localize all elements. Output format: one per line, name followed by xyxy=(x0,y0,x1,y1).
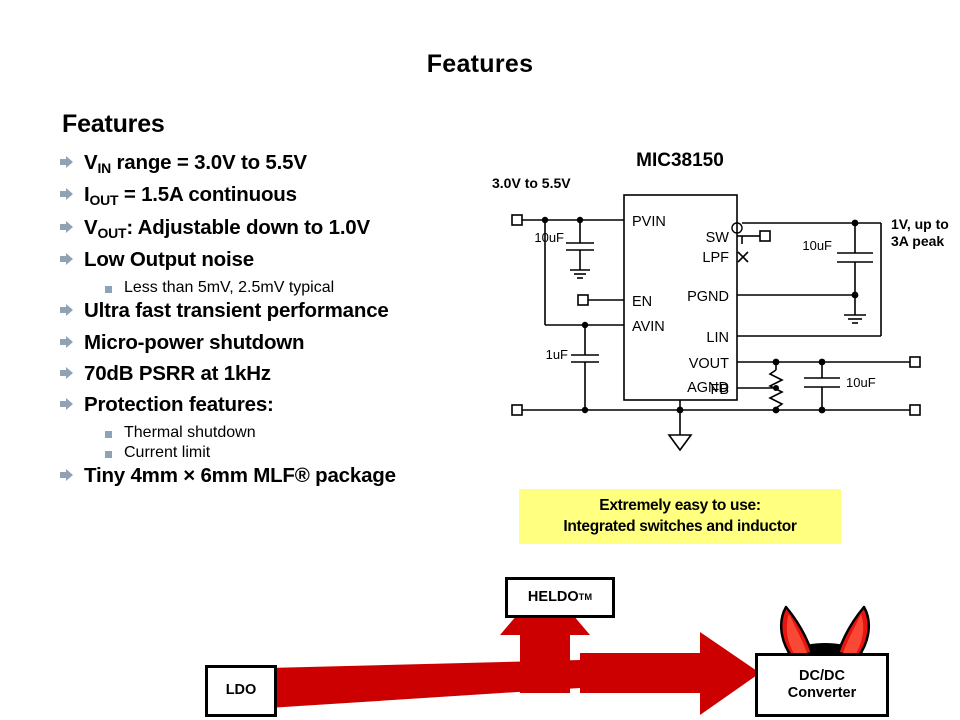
terminal-gnd-in xyxy=(512,405,522,415)
pin-label-fb: FB xyxy=(710,382,729,398)
terminal-vin xyxy=(512,215,522,225)
arrow-bullet-icon xyxy=(60,253,76,271)
bullet-text-subscript: IN xyxy=(97,160,111,176)
bullet-text-main: Micro-power shutdown xyxy=(84,331,304,354)
heldo-trademark: TM xyxy=(579,592,592,603)
callout-line-1: Extremely easy to use: xyxy=(599,496,760,516)
cap-label-cin-pvin: 10uF xyxy=(534,230,564,245)
ldo-box[interactable]: LDO xyxy=(205,665,277,717)
ldo-label: LDO xyxy=(226,682,257,699)
bullet-item: 70dB PSRR at 1kHz xyxy=(60,362,490,386)
dcdc-label-line1: DC/DC xyxy=(788,668,857,685)
pin-label-pvin: PVIN xyxy=(632,214,666,230)
bullet-text-main: Thermal shutdown xyxy=(124,424,256,441)
bullet-text: IOUT = 1.5A continuous xyxy=(84,183,297,208)
bullet-item: Thermal shutdown xyxy=(60,423,490,442)
features-bullet-list: Features VIN range = 3.0V to 5.5VIOUT = … xyxy=(60,110,490,496)
bullet-text-main: Low Output noise xyxy=(84,248,254,271)
arrow-bullet-icon xyxy=(60,367,76,385)
bullet-text-main: Ultra fast transient performance xyxy=(84,299,389,322)
bullet-text: Low Output noise xyxy=(84,248,254,272)
bullet-item: VOUT: Adjustable down to 1.0V xyxy=(60,216,490,241)
bullet-text-main: V xyxy=(84,216,97,239)
node-dot xyxy=(677,407,684,414)
pin-label-sw: SW xyxy=(706,230,730,246)
dcdc-label-line2: Converter xyxy=(788,685,857,702)
pin-label-lin: LIN xyxy=(706,330,729,346)
arrow-bullet-icon xyxy=(60,156,76,174)
square-bullet-icon xyxy=(105,286,112,293)
bullet-item: VIN range = 3.0V to 5.5V xyxy=(60,151,490,176)
arrow-bullet-icon xyxy=(60,336,76,354)
square-bullet-icon xyxy=(105,431,112,438)
heldo-label: HELDO xyxy=(528,589,579,606)
bullet-item: Protection features: xyxy=(60,393,490,417)
bullet-item: Tiny 4mm × 6mm MLF® package xyxy=(60,464,490,488)
ic-part-number: MIC38150 xyxy=(636,150,724,171)
cap-label-cin-avin: 1uF xyxy=(546,347,568,362)
features-heading: Features xyxy=(62,110,490,139)
pin-label-pgnd: PGND xyxy=(687,289,729,305)
bullet-text: VOUT: Adjustable down to 1.0V xyxy=(84,216,370,241)
bullet-text: Micro-power shutdown xyxy=(84,331,304,355)
application-circuit-diagram: MIC38150 3.0V to 5.5V 1V, up to 3A peak … xyxy=(480,140,960,470)
node-dot xyxy=(773,407,780,414)
arrow-bullet-icon xyxy=(60,221,76,239)
bullet-text: VIN range = 3.0V to 5.5V xyxy=(84,151,307,176)
bullet-item: Micro-power shutdown xyxy=(60,331,490,355)
bullet-text-main: 70dB PSRR at 1kHz xyxy=(84,362,271,385)
bullet-text-main: V xyxy=(84,151,97,174)
terminal-gnd-out xyxy=(910,405,920,415)
bullet-text-tail: : Adjustable down to 1.0V xyxy=(126,216,370,239)
bullet-text: 70dB PSRR at 1kHz xyxy=(84,362,271,386)
output-label-line1: 1V, up to xyxy=(891,216,949,232)
bullet-item: Low Output noise xyxy=(60,248,490,272)
node-dot xyxy=(819,407,826,414)
bullet-text-subscript: OUT xyxy=(97,225,126,241)
arrow-bullet-icon xyxy=(60,469,76,487)
bullet-text: Current limit xyxy=(124,443,210,462)
bullet-item: Less than 5mV, 2.5mV typical xyxy=(60,278,490,297)
callout-banner: Extremely easy to use: Integrated switch… xyxy=(519,489,841,544)
terminal-sw xyxy=(760,231,770,241)
circuit-schematic-svg: MIC38150 3.0V to 5.5V 1V, up to 3A peak … xyxy=(480,140,960,470)
page-title: Features xyxy=(0,50,960,79)
cap-label-cout: 10uF xyxy=(846,375,876,390)
cap-label-clin: 10uF xyxy=(802,238,832,253)
bullet-item: IOUT = 1.5A continuous xyxy=(60,183,490,208)
heldo-box[interactable]: HELDOTM xyxy=(505,577,615,618)
pin-label-vout: VOUT xyxy=(689,356,729,372)
dcdc-converter-box[interactable]: DC/DC Converter xyxy=(755,653,889,717)
horizontal-migration-arrow xyxy=(268,632,760,715)
bullet-text-main: Tiny 4mm × 6mm MLF® package xyxy=(84,464,396,487)
bullet-text: Ultra fast transient performance xyxy=(84,299,389,323)
bullet-item: Ultra fast transient performance xyxy=(60,299,490,323)
pin-label-avin: AVIN xyxy=(632,319,665,335)
bullet-text: Tiny 4mm × 6mm MLF® package xyxy=(84,464,396,488)
callout-line-2: Integrated switches and inductor xyxy=(563,517,796,537)
migration-graphic: HELDOTM LDO DC/DC Converter xyxy=(0,560,960,720)
bullet-text: Protection features: xyxy=(84,393,274,417)
bullet-item: Current limit xyxy=(60,443,490,462)
bullet-text-main: Protection features: xyxy=(84,393,274,416)
pin-label-lpf: LPF xyxy=(702,250,729,266)
bullet-text: Thermal shutdown xyxy=(124,423,256,442)
output-label-line2: 3A peak xyxy=(891,233,944,249)
bullet-text-tail: = 1.5A continuous xyxy=(118,183,296,206)
square-bullet-icon xyxy=(105,451,112,458)
pin-label-en: EN xyxy=(632,294,652,310)
input-voltage-label: 3.0V to 5.5V xyxy=(492,175,571,191)
arrow-bullet-icon xyxy=(60,188,76,206)
bullet-text-main: Less than 5mV, 2.5mV typical xyxy=(124,279,334,296)
bullet-text-main: Current limit xyxy=(124,444,210,461)
arrow-bullet-icon xyxy=(60,398,76,416)
arrow-bullet-icon xyxy=(60,304,76,322)
earth-ground-symbol xyxy=(669,435,691,450)
terminal-vout xyxy=(910,357,920,367)
bullet-text-tail: range = 3.0V to 5.5V xyxy=(111,151,307,174)
terminal-en xyxy=(578,295,588,305)
bullet-text: Less than 5mV, 2.5mV typical xyxy=(124,278,334,297)
bullet-text-subscript: OUT xyxy=(90,192,119,208)
